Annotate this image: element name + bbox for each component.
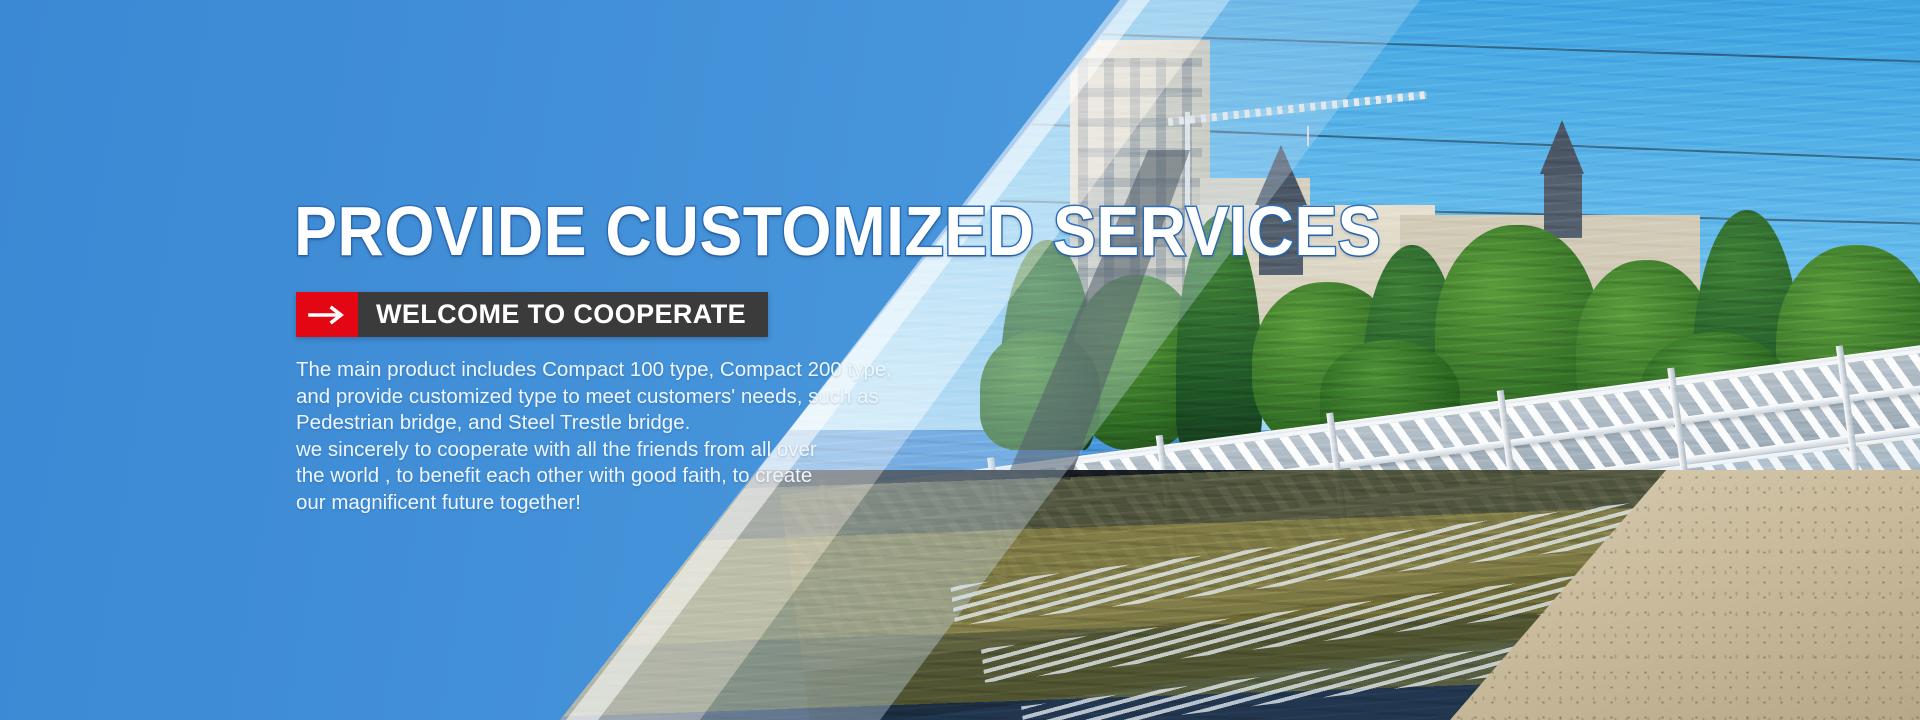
- description-text: The main product includes Compact 100 ty…: [296, 357, 892, 516]
- description-line: and provide customized type to meet cust…: [296, 384, 892, 411]
- description-line: The main product includes Compact 100 ty…: [296, 357, 892, 384]
- description-line: Pedestrian bridge, and Steel Trestle bri…: [296, 410, 892, 437]
- description-line: we sincerely to cooperate with all the f…: [296, 437, 892, 464]
- description-line: the world , to benefit each other with g…: [296, 463, 892, 490]
- promo-banner: PROVIDE CUSTOMIZED SERVICES WELCOME TO C…: [0, 0, 1920, 720]
- page-title: PROVIDE CUSTOMIZED SERVICES: [294, 196, 1381, 266]
- welcome-badge[interactable]: WELCOME TO COOPERATE: [296, 292, 768, 337]
- welcome-badge-label: WELCOME TO COOPERATE: [358, 292, 768, 337]
- arrow-right-icon: [296, 292, 358, 337]
- description-line: our magnificent future together!: [296, 490, 892, 517]
